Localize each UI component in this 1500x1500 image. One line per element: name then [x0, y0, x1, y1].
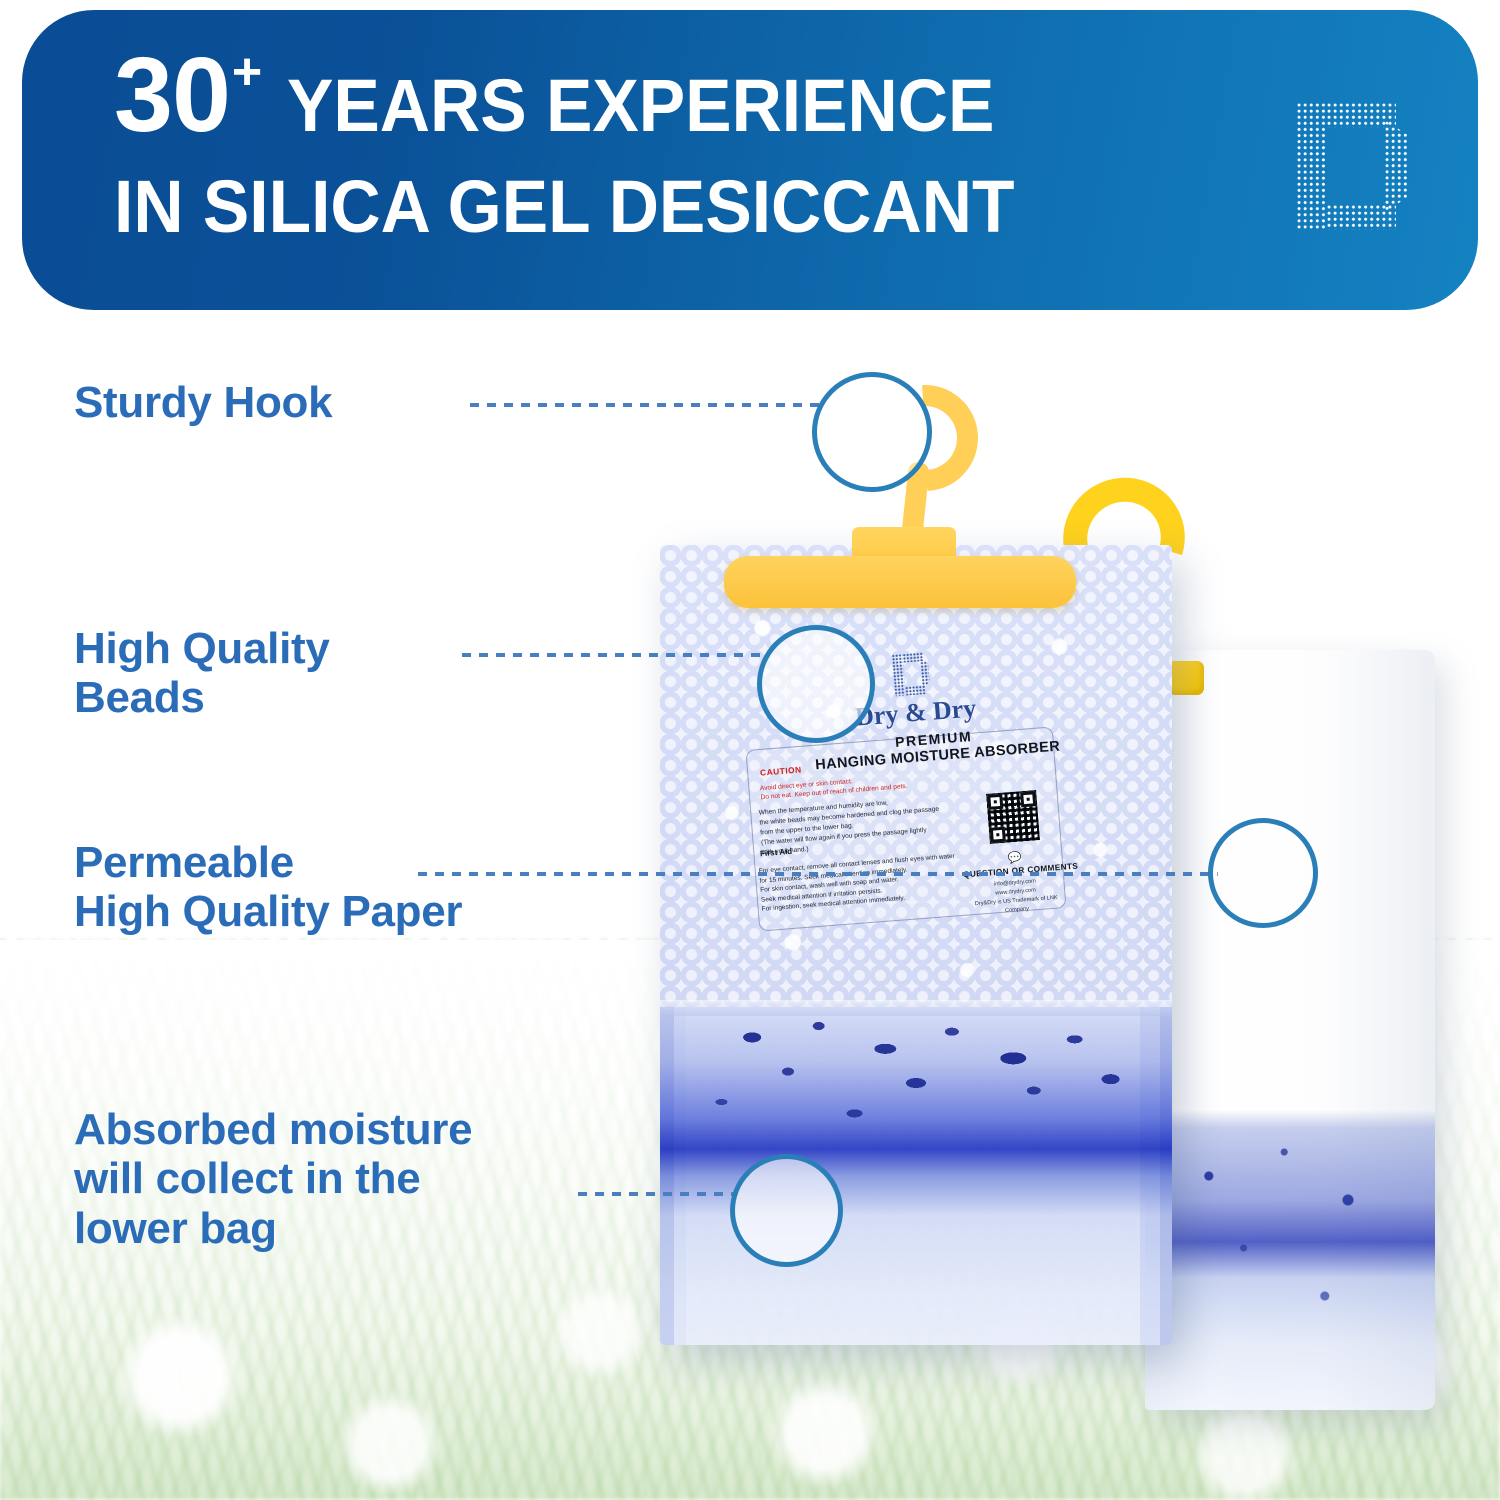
leader-line-sturdy-hook [470, 403, 822, 407]
product-photo: Dry & Dry PREMIUM HANGING MOISTURE ABSOR… [0, 0, 1500, 1500]
callout-circle-absorbed-moisture [730, 1154, 843, 1267]
dotted-d-logo-icon [891, 652, 930, 697]
hook-clamp-bar [724, 556, 1076, 608]
product-logo-top-dots [902, 652, 923, 663]
back-bag-collected-water [1145, 1110, 1435, 1410]
qr-finder-top-right [1020, 791, 1036, 807]
qr-finder-bottom-left [990, 827, 1006, 843]
leader-line-permeable-paper [418, 872, 1218, 876]
leader-line-high-quality-beads [462, 653, 762, 657]
back-bag-paper-side [1145, 650, 1435, 1410]
leader-line-absorbed-moisture [578, 1192, 738, 1196]
feature-label-sturdy-hook: Sturdy Hook [74, 378, 332, 427]
callout-circle-permeable-paper [1208, 818, 1318, 928]
water-droplets [660, 1007, 1172, 1197]
callout-circle-high-quality-beads [757, 625, 875, 743]
feature-label-permeable-paper: Permeable High Quality Paper [74, 838, 462, 937]
feature-label-absorbed-moisture: Absorbed moisture will collect in the lo… [74, 1105, 472, 1253]
feature-label-high-quality-beads: High Quality Beads [74, 624, 330, 723]
back-bag-yellow-tab [1168, 661, 1204, 695]
callout-circle-sturdy-hook [812, 372, 932, 492]
qr-code-icon [986, 790, 1040, 844]
qr-finder-top-left [987, 794, 1003, 810]
speech-bubble-icon: 💬 [1008, 850, 1023, 864]
